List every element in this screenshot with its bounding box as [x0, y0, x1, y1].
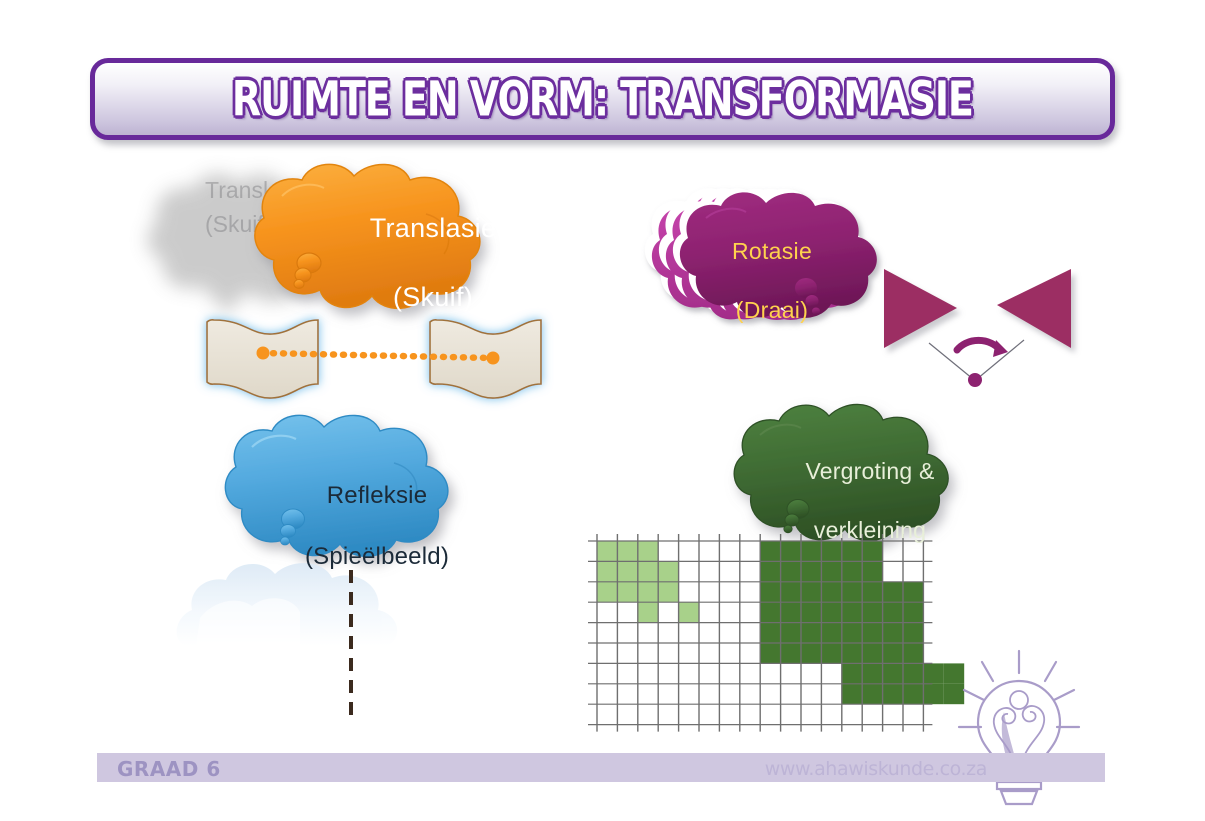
grid-cell-filled: [760, 582, 780, 602]
grid-cell-filled: [883, 582, 903, 602]
grid-cell-filled: [903, 684, 923, 704]
grid-cell-filled: [923, 663, 943, 683]
grid-cell-filled: [801, 541, 821, 561]
cloud-translasie: [255, 164, 480, 308]
grid-cell-filled: [760, 643, 780, 663]
grid-cell-filled: [801, 561, 821, 581]
grid-cell-filled: [821, 623, 841, 643]
grid-cell-filled: [862, 602, 882, 622]
diagram-reflection: [177, 563, 398, 722]
grid-cell-filled: [597, 561, 617, 581]
grid-cell-filled: [679, 602, 699, 622]
grid-cell-filled: [801, 643, 821, 663]
grid-cell-filled: [903, 582, 923, 602]
grid-cell-filled: [821, 643, 841, 663]
grid-cell-filled: [862, 561, 882, 581]
grid-cell-filled: [862, 582, 882, 602]
grid-cell-filled: [842, 643, 862, 663]
grid-cell-filled: [638, 582, 658, 602]
grid-cell-filled: [883, 684, 903, 704]
triangle-rotated: [997, 269, 1071, 348]
grid-cell-filled: [597, 541, 617, 561]
reflection-backdrop-cloud: [177, 563, 398, 646]
rotation-arc-arrow: [957, 340, 1000, 350]
cloud-vergroting: [734, 404, 948, 540]
grid-cell-filled: [903, 602, 923, 622]
grid-cell-filled: [760, 561, 780, 581]
grid-cell-filled: [862, 663, 882, 683]
grid-cell-filled: [842, 663, 862, 683]
diagram-scaling: [588, 534, 964, 732]
grid-cell-filled: [842, 541, 862, 561]
grid-cell-filled: [638, 561, 658, 581]
grid-cell-filled: [801, 582, 821, 602]
cloud-refleksie: [225, 415, 448, 556]
diagram-rotation: [884, 269, 1071, 387]
rotation-pivot-point: [968, 373, 982, 387]
grid-cell-filled: [597, 582, 617, 602]
grid-cell-filled: [842, 684, 862, 704]
grid-cell-filled: [821, 541, 841, 561]
grid-cell-filled: [781, 582, 801, 602]
grid-cell-filled: [883, 663, 903, 683]
grid-cell-filled: [658, 561, 678, 581]
grid-cell-filled: [617, 582, 637, 602]
translation-marker-end: [487, 352, 500, 365]
grid-cell-filled: [821, 602, 841, 622]
footer-bar: GRAAD 6 www.ahawiskunde.co.za: [97, 753, 1105, 782]
slide-canvas: RUIMTE EN VORM: TRANSFORMASIE: [0, 0, 1205, 821]
grid-cell-filled: [842, 582, 862, 602]
rotation-guide-left: [929, 343, 973, 379]
translation-marker-start: [257, 347, 270, 360]
grid-cell-filled: [781, 602, 801, 622]
cloud-rotasie: [645, 188, 877, 320]
grid-cell-filled: [842, 561, 862, 581]
grid-cell-filled: [944, 663, 964, 683]
grid-cell-filled: [862, 643, 882, 663]
grid-cell-filled: [617, 541, 637, 561]
grid-cell-filled: [883, 643, 903, 663]
grid-cell-filled: [760, 541, 780, 561]
grid-cell-filled: [781, 643, 801, 663]
triangle-original: [884, 269, 957, 348]
grid-cell-filled: [658, 582, 678, 602]
grid-cell-filled: [801, 623, 821, 643]
grid-cell-filled: [903, 623, 923, 643]
illustration-layer: Translasie (Skuif): [0, 0, 1205, 821]
grid-cell-filled: [842, 602, 862, 622]
grid-cell-filled: [862, 684, 882, 704]
lightbulb-rays-icon: [959, 651, 1079, 727]
grid-cell-filled: [781, 561, 801, 581]
footer-website-url: www.ahawiskunde.co.za: [765, 758, 987, 780]
grid-cell-filled: [903, 643, 923, 663]
grid-cell-filled: [617, 561, 637, 581]
grid-cell-filled: [760, 602, 780, 622]
grid-cell-filled: [903, 663, 923, 683]
grid-cell-filled: [883, 623, 903, 643]
grid-cell-filled: [638, 541, 658, 561]
grid-cell-filled: [781, 541, 801, 561]
grid-cell-filled: [760, 623, 780, 643]
footer-grade-label: GRAAD 6: [117, 757, 221, 781]
grid-cell-filled: [883, 602, 903, 622]
diagram-translation: [207, 320, 541, 398]
grid-cell-filled: [821, 561, 841, 581]
grid-cell-filled: [944, 684, 964, 704]
grid-cell-filled: [821, 582, 841, 602]
grid-cell-filled: [842, 623, 862, 643]
grid-cell-filled: [923, 684, 943, 704]
grid-cell-filled: [781, 623, 801, 643]
grid-cell-filled: [862, 623, 882, 643]
grid-cell-filled: [862, 541, 882, 561]
grid-cell-filled: [801, 602, 821, 622]
grid-cell-filled: [638, 602, 658, 622]
